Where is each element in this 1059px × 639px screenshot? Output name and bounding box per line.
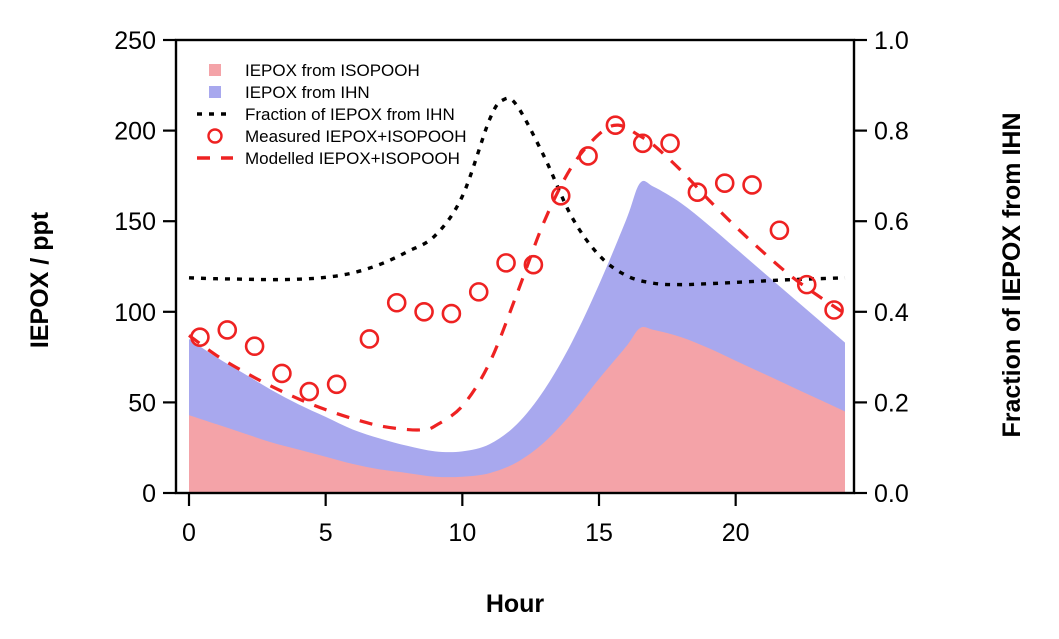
y-tick-label: 50: [128, 389, 156, 417]
legend-label: Modelled IEPOX+ISOPOOH: [245, 149, 460, 168]
y2-tick-label: 0.8: [874, 118, 909, 146]
y2-tick-label: 1.0: [874, 27, 909, 55]
chart-container: 050100150200250 0.00.20.40.60.81.0 05101…: [0, 0, 1059, 639]
y-tick-label: 250: [114, 27, 156, 55]
y-tick-label: 100: [114, 299, 156, 327]
legend-label: IEPOX from ISOPOOH: [245, 61, 420, 80]
x-axis-title: Hour: [486, 590, 545, 618]
legend-label: Fraction of IEPOX from IHN: [245, 105, 455, 124]
y2-tick-label: 0.2: [874, 389, 909, 417]
x-tick-label: 10: [448, 519, 476, 547]
x-tick-label: 15: [585, 519, 613, 547]
iepox-diurnal-chart: 050100150200250 0.00.20.40.60.81.0 05101…: [0, 0, 1059, 639]
legend-label: IEPOX from IHN: [245, 83, 370, 102]
y-tick-label: 150: [114, 208, 156, 236]
x-tick-label: 0: [182, 519, 196, 547]
y2-tick-label: 0.6: [874, 208, 909, 236]
legend-swatch-2: [209, 86, 221, 98]
y-tick-label: 0: [142, 480, 156, 508]
y2-tick-label: 0.0: [874, 480, 909, 508]
y-axis-title: IEPOX / ppt: [26, 211, 54, 348]
x-tick-label: 5: [319, 519, 333, 547]
legend-swatch-1: [209, 64, 221, 76]
y-tick-label: 200: [114, 118, 156, 146]
y2-tick-label: 0.4: [874, 299, 909, 327]
legend-label: Measured IEPOX+ISOPOOH: [245, 127, 467, 146]
x-tick-label: 20: [722, 519, 750, 547]
y2-axis-title: Fraction of IEPOX from IHN: [998, 112, 1026, 437]
